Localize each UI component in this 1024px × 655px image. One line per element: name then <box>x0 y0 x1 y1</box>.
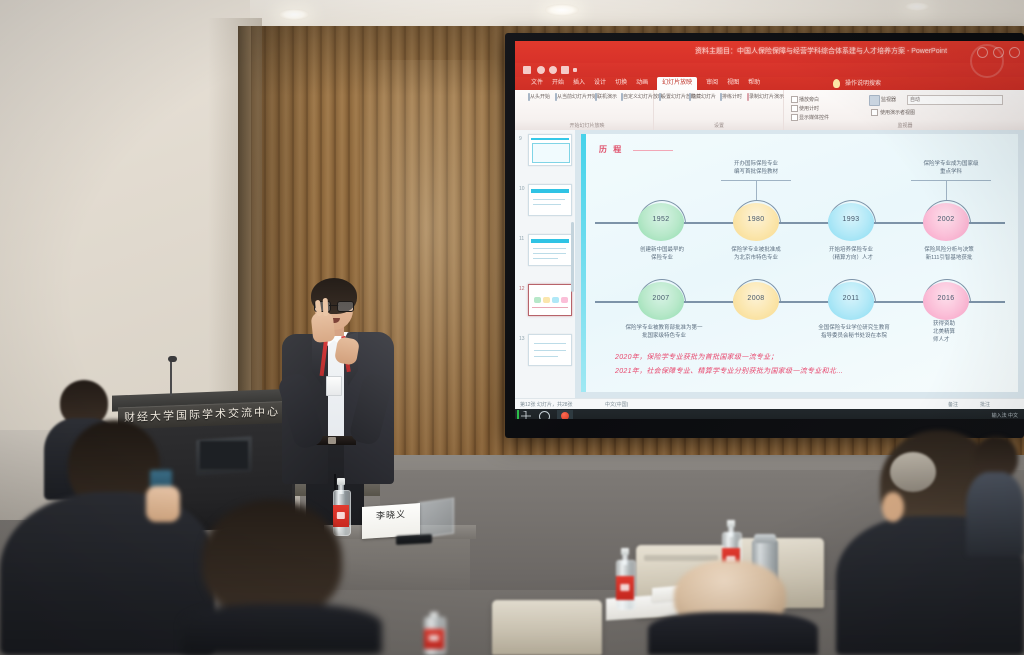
thumb-line <box>534 343 566 344</box>
node-caption-below-2007: 保险学专业被教育部批准为第一 批国家级特色专业 <box>609 324 719 340</box>
slide-footnote-2: 2021年，社会保障专业、精算学专业分别获批为国家级一流专业和北… <box>615 366 843 377</box>
audience-hand <box>146 486 180 522</box>
bottle-neck <box>338 484 344 494</box>
presenter-view-checkbox[interactable] <box>871 109 878 116</box>
thumb-number-11: 11 <box>519 236 524 242</box>
caption-stem <box>756 180 757 200</box>
ribbon-rehearse[interactable]: 排练计时 <box>717 94 745 100</box>
presenter-badge <box>326 376 342 396</box>
ribbon-group-start-slideshow: 从头开始 从当前幻灯片开始 联机演示 自定义幻灯片放映 开始幻灯片放映 <box>521 90 654 130</box>
caption-line: 保险学专业被批准成 <box>715 246 797 254</box>
node-year: 1952 <box>638 216 684 223</box>
caption-line: 编写首批保险教材 <box>713 168 799 176</box>
timeline-node-2008: 2008 <box>733 282 779 320</box>
caption-line: 为北京市特色专业 <box>715 254 797 262</box>
thumb-line <box>533 258 558 259</box>
node-year: 2011 <box>828 295 874 302</box>
timeline-node-1952: 1952 <box>638 203 684 241</box>
quick-access-toolbar[interactable] <box>515 63 1024 77</box>
comments-button[interactable]: 批注 <box>980 401 990 408</box>
caption-line: 开办国际保险专业 <box>713 160 799 168</box>
thumb-box <box>532 143 570 163</box>
caption-line: （精算方向）人才 <box>810 254 892 262</box>
taskbar-tray[interactable]: 输入法 中文 <box>992 412 1018 419</box>
ribbon-group-setup: 设置幻灯片放映 隐藏幻灯片 排练计时 录制幻灯片演示 设置 <box>655 90 784 130</box>
present-icon[interactable] <box>561 66 569 74</box>
powerpoint-taskbar-icon[interactable] <box>557 410 573 419</box>
ceiling-light-3 <box>905 2 929 11</box>
thumb-node <box>534 297 541 303</box>
timeline-node-2011: 2011 <box>828 282 874 320</box>
thermos-cap <box>754 534 776 543</box>
ribbon-group-label-start: 开始幻灯片放映 <box>521 122 653 129</box>
thumb-line <box>533 253 566 254</box>
node-year: 2016 <box>923 295 969 302</box>
tab-slideshow[interactable]: 幻灯片放映 <box>657 77 697 90</box>
node-caption-below-2011: 全国保险专业学位研究生教育 指导委员会秘书处设在本院 <box>799 324 909 340</box>
slide-thumbnail-selected[interactable] <box>528 284 572 316</box>
node-caption-below-1993: 开始培养保险专业 （精算方向）人才 <box>810 246 892 262</box>
close-icon[interactable] <box>1009 47 1020 58</box>
node-year: 2007 <box>638 295 684 302</box>
node-year: 1980 <box>733 216 779 223</box>
thumb-node <box>543 297 550 303</box>
node-year: 2008 <box>733 295 779 302</box>
ceiling-light-2 <box>545 4 579 16</box>
monitor-icon <box>869 95 880 106</box>
audience-shoulders <box>966 472 1024 556</box>
caption-line: 新111引智基地获批 <box>903 254 995 262</box>
caption-line: 指导委员会秘书处设在本院 <box>799 332 909 340</box>
bottle-label-mark <box>620 584 629 591</box>
caption-line: 全国保险专业学位研究生教育 <box>799 324 909 332</box>
windows-taskbar[interactable]: 输入法 中文 <box>515 409 1024 419</box>
thumbnail-scrollbar[interactable] <box>571 222 574 292</box>
ribbon-present-online[interactable]: 联机演示 <box>593 94 619 100</box>
lightbulb-icon <box>833 79 840 88</box>
current-slide[interactable]: 历 程 1952 1980 1993 2002 <box>581 134 1018 392</box>
timeline-node-2016: 2016 <box>923 282 969 320</box>
table-phone <box>396 534 432 545</box>
tab-design[interactable]: 设计 <box>594 77 606 90</box>
audience-member <box>880 452 950 522</box>
window-title: 资料主题目：中国人保险保障与经营学科综合体系建与人才培养方案 - PowerPo… <box>695 45 1015 59</box>
belt-buckle <box>328 437 336 444</box>
thumb-number-12: 12 <box>519 286 525 292</box>
start-icon[interactable] <box>521 411 531 419</box>
ribbon-group-monitors: 播放旁白 使用计时 显示媒体控件 监视器 自动 使用演示者视图 监视器 <box>785 90 1021 130</box>
caption-line: 获得资助 <box>933 320 1003 328</box>
thumb-number-9: 9 <box>519 136 522 142</box>
slide-thumbnail[interactable] <box>528 234 572 266</box>
ribbon-from-current[interactable]: 从当前幻灯片开始 <box>555 94 591 100</box>
thumb-node <box>561 297 568 303</box>
water-bottle <box>424 612 444 655</box>
timeline-node-2002: 2002 <box>923 203 969 241</box>
ribbon-tabs[interactable]: 文件 开始 插入 设计 切换 动画 幻灯片放映 审阅 视图 帮助 <box>531 77 760 90</box>
slide-thumbnail-pane[interactable]: 9 10 11 12 <box>515 130 576 398</box>
ribbon-from-beginning[interactable]: 从头开始 <box>525 94 553 100</box>
monitor-label: 监视器 <box>881 96 896 103</box>
slide-thumbnail[interactable] <box>528 134 572 166</box>
ribbon-group-label-setup: 设置 <box>655 122 783 129</box>
bottle-cap <box>337 478 344 485</box>
tab-home[interactable]: 开始 <box>552 77 564 90</box>
use-timings-checkbox[interactable] <box>791 105 798 112</box>
bottle-neck <box>622 554 628 565</box>
audience-shoulders <box>648 612 818 655</box>
audience-head <box>202 500 342 618</box>
tab-view[interactable]: 视图 <box>727 77 739 90</box>
thumb-node <box>552 297 559 303</box>
thumb-band <box>531 138 569 140</box>
play-narrations-label: 播放旁白 <box>799 96 819 103</box>
caption-line: 保险专业 <box>621 254 703 262</box>
thumb-band <box>531 239 569 243</box>
tab-help[interactable]: 帮助 <box>748 77 760 90</box>
bottle-neck <box>728 526 734 537</box>
bottle-label <box>424 629 444 649</box>
caption-line: 保险风险分析与决策 <box>903 246 995 254</box>
podium-microphone-head <box>168 356 177 362</box>
audience-head <box>890 452 936 492</box>
search-icon[interactable] <box>539 411 550 419</box>
ceiling-light-1 <box>279 9 309 20</box>
caption-line: 重点学科 <box>903 168 999 176</box>
audience-member-bald <box>648 560 818 655</box>
node-caption-below-1952: 创建新中国最早的 保险专业 <box>621 246 703 262</box>
ribbon-group-label-monitors: 监视器 <box>825 122 985 129</box>
tab-insert[interactable]: 插入 <box>573 77 585 90</box>
show-media-controls-label: 显示媒体控件 <box>799 114 829 121</box>
caption-line: 师人才 <box>933 336 1003 344</box>
lens-right <box>337 301 354 312</box>
node-caption-below-2016: 获得资助 北美精算 师人才 <box>933 320 1003 344</box>
slide-accent-bar <box>581 134 586 392</box>
notes-button[interactable]: 备注 <box>948 401 958 408</box>
ribbon-setup-show[interactable]: 设置幻灯片放映 <box>659 94 687 100</box>
ribbon-record[interactable]: 录制幻灯片演示 <box>747 94 779 100</box>
caption-line: 创建新中国最早的 <box>621 246 703 254</box>
redo-icon[interactable] <box>549 66 557 74</box>
thumb-number-13: 13 <box>519 336 525 342</box>
slide-thumbnail[interactable] <box>528 184 572 216</box>
timeline-node-2007: 2007 <box>638 282 684 320</box>
slide-title: 历 程 <box>599 144 623 155</box>
thumb-line <box>533 204 561 205</box>
powerpoint-titlebar: 资料主题目：中国人保险保障与经营学科综合体系建与人才培养方案 - PowerPo… <box>515 41 1024 63</box>
use-timings-label: 使用计时 <box>799 105 819 112</box>
caption-line: 保险学专业被教育部批准为第一 <box>609 324 719 332</box>
caption-line: 保险学专业成为国家级 <box>903 160 999 168</box>
slide-thumbnail[interactable] <box>528 334 572 366</box>
undo-icon[interactable] <box>537 66 545 74</box>
bottle-cap <box>727 520 735 527</box>
thumb-band <box>531 189 569 193</box>
bottle-label <box>616 576 634 600</box>
thumb-line <box>532 307 568 308</box>
audience-member <box>182 500 382 655</box>
water-bottle <box>616 548 634 610</box>
podium-microphone-stem <box>170 360 172 396</box>
language-indicator[interactable]: 中文(中国) <box>605 401 628 408</box>
thumb-line <box>533 199 565 200</box>
chair <box>492 600 602 655</box>
conference-room-photo: 资料主题目：中国人保险保障与经营学科综合体系建与人才培养方案 - PowerPo… <box>0 0 1024 655</box>
node-year: 1993 <box>828 216 874 223</box>
slide-counter: 第12张 幻灯片，共28张 <box>520 401 573 408</box>
presenter-view-label: 使用演示者视图 <box>880 109 915 116</box>
slide-title-rule <box>633 150 673 151</box>
monitor-select[interactable]: 自动 <box>907 95 1003 105</box>
node-caption-below-1980: 保险学专业被批准成 为北京市特色专业 <box>715 246 797 262</box>
play-narrations-checkbox[interactable] <box>791 96 798 103</box>
thumb-number-10: 10 <box>519 186 525 192</box>
caption-line: 批国家级特色专业 <box>609 332 719 340</box>
tab-animations[interactable]: 动画 <box>636 77 648 90</box>
namecard-stand <box>418 497 454 538</box>
more-icon[interactable] <box>573 68 577 72</box>
bottle-cap <box>430 612 439 619</box>
taskbar-accent <box>517 410 519 419</box>
node-caption-above-1980: 开办国际保险专业 编写首批保险教材 <box>713 160 799 176</box>
node-year: 2002 <box>923 216 969 223</box>
audience-shoulders <box>182 604 382 655</box>
audience-member <box>966 436 1024 556</box>
tell-me-search[interactable]: 操作说明搜索 <box>845 78 881 87</box>
show-media-controls-checkbox[interactable] <box>791 114 798 121</box>
ribbon-custom-show[interactable]: 自定义幻灯片放映 <box>621 94 651 100</box>
monitor-select-value: 自动 <box>910 97 920 103</box>
caption-line: 北美精算 <box>933 328 1003 336</box>
display-screen[interactable]: 资料主题目：中国人保险保障与经营学科综合体系建与人才培养方案 - PowerPo… <box>515 41 1024 419</box>
save-icon[interactable] <box>523 66 531 74</box>
tab-file[interactable]: 文件 <box>531 77 543 90</box>
timeline-node-1993: 1993 <box>828 203 874 241</box>
thumb-line <box>533 248 566 249</box>
caption-stem <box>946 180 947 200</box>
tab-transitions[interactable]: 切换 <box>615 77 627 90</box>
node-caption-below-2002: 保险风险分析与决策 新111引智基地获批 <box>903 246 995 262</box>
node-caption-above-2002: 保险学专业成为国家级 重点学科 <box>903 160 999 176</box>
display-brand-logo <box>970 44 1004 78</box>
slide-footnote-1: 2020年，保险学专业获批为首批国家级一流专业； <box>615 352 778 363</box>
tab-review[interactable]: 审阅 <box>706 77 718 90</box>
thumb-line <box>534 356 558 357</box>
bottle-label-mark <box>429 635 439 641</box>
presenter-hand-left <box>310 311 335 343</box>
ribbon-hide-slide[interactable]: 隐藏幻灯片 <box>689 94 715 100</box>
caption-rule <box>911 180 991 181</box>
bottle-cap <box>621 548 629 555</box>
powerpoint-icon <box>561 412 569 419</box>
slide-editing-area[interactable]: 历 程 1952 1980 1993 2002 <box>575 130 1024 398</box>
caption-line: 开始培养保险专业 <box>810 246 892 254</box>
presenter-finger <box>323 298 329 316</box>
timeline-node-1980: 1980 <box>733 203 779 241</box>
thumb-line <box>534 350 566 351</box>
